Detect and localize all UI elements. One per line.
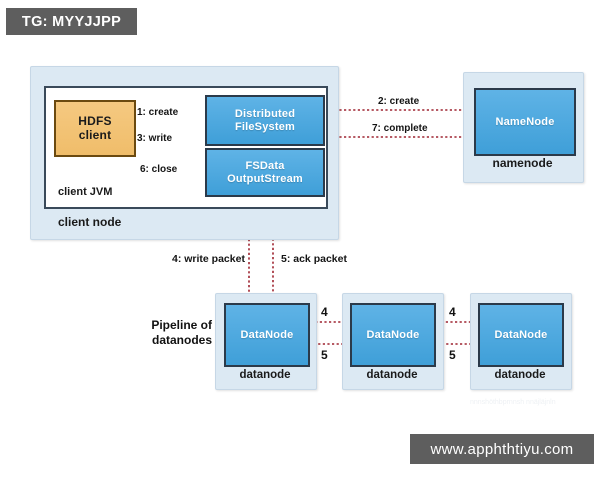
datanode-2-box[interactable]: DataNode: [350, 303, 436, 367]
pipeline-number-dn2-dn3-ack: 5: [449, 348, 456, 362]
pipeline-label-line1: Pipeline of: [151, 318, 212, 332]
namenode-caption: namenode: [463, 156, 582, 170]
datanode-1-caption: datanode: [215, 369, 315, 381]
dfs-label-line1: Distributed: [235, 108, 295, 120]
faint-source-watermark: nnnshöthbprnnsh nnäjläjnln: [470, 399, 590, 406]
step-5-label: 5: ack packet: [281, 253, 347, 265]
step-1-label: 1: create: [137, 107, 178, 118]
distributed-filesystem-box[interactable]: Distributed FileSystem: [205, 95, 325, 146]
distributed-filesystem-label: Distributed FileSystem: [235, 108, 295, 133]
hdfs-client-box[interactable]: HDFS client: [54, 100, 136, 157]
step-6-label: 6: close: [140, 164, 177, 175]
fsdata-label-line1: FSData: [245, 160, 284, 172]
datanode-2-caption: datanode: [342, 369, 442, 381]
datanode-1-box[interactable]: DataNode: [224, 303, 310, 367]
datanode-3-label: DataNode: [495, 329, 548, 342]
step-4-label: 4: write packet: [172, 253, 245, 265]
watermark-bottom-right: www.apphthtiyu.com: [410, 434, 594, 464]
fsdata-outputstream-box[interactable]: FSData OutputStream: [205, 148, 325, 197]
datanode-3-caption: datanode: [470, 369, 570, 381]
pipeline-number-dn2-dn3-forward: 4: [449, 305, 456, 319]
fsdata-outputstream-label: FSData OutputStream: [227, 160, 303, 185]
step-3-label: 3: write: [137, 133, 172, 144]
watermark-top-left: TG: MYYJJPP: [6, 8, 137, 35]
step-2-label: 2: create: [378, 96, 419, 107]
diagram-canvas: client JVM client node HDFS client Distr…: [0, 0, 600, 480]
hdfs-client-label-line1: HDFS: [78, 114, 111, 128]
step-7-label: 7: complete: [372, 123, 428, 134]
fsdata-label-line2: OutputStream: [227, 173, 303, 185]
namenode-label: NameNode: [495, 116, 554, 129]
client-jvm-caption: client JVM: [58, 186, 112, 198]
pipeline-number-dn1-dn2-forward: 4: [321, 305, 328, 319]
datanode-3-box[interactable]: DataNode: [478, 303, 564, 367]
datanode-1-label: DataNode: [241, 329, 294, 342]
hdfs-client-label-line2: client: [79, 128, 112, 142]
dfs-label-line2: FileSystem: [235, 121, 295, 133]
pipeline-number-dn1-dn2-ack: 5: [321, 348, 328, 362]
client-node-caption: client node: [58, 215, 121, 229]
pipeline-label-line2: datanodes: [152, 333, 212, 347]
datanode-2-label: DataNode: [367, 329, 420, 342]
namenode-box[interactable]: NameNode: [474, 88, 576, 156]
hdfs-client-label: HDFS client: [78, 115, 111, 143]
pipeline-of-datanodes-label: Pipeline of datanodes: [126, 318, 212, 348]
